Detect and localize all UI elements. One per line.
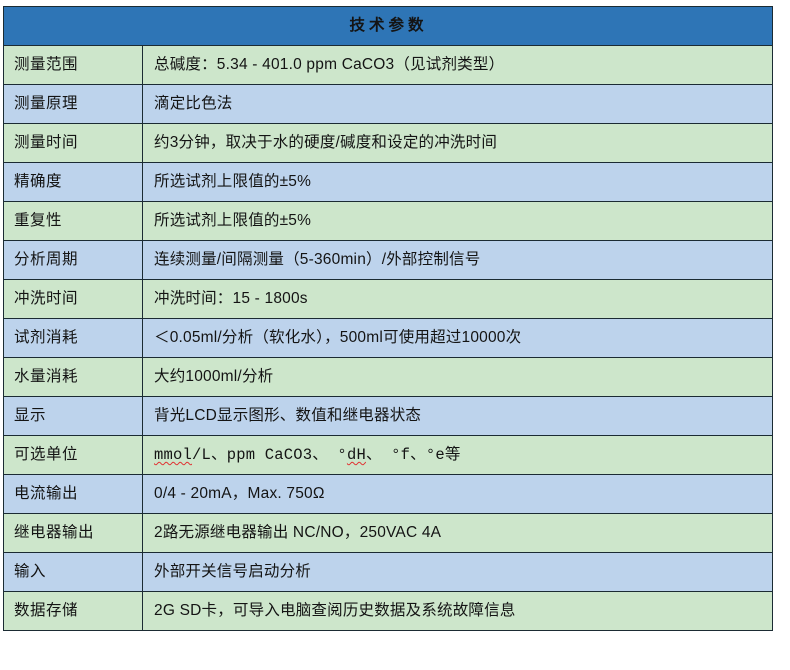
table-row: 数据存储2G SD卡，可导入电脑查阅历史数据及系统故障信息 <box>4 592 773 631</box>
table-row: 输入外部开关信号启动分析 <box>4 553 773 592</box>
spec-value-cell: 0/4 - 20mA，Max. 750Ω <box>143 475 773 514</box>
spec-label-cell: 继电器输出 <box>4 514 143 553</box>
spec-label-cell: 重复性 <box>4 202 143 241</box>
table-row: 冲洗时间冲洗时间：15 - 1800s <box>4 280 773 319</box>
table-row: 精确度所选试剂上限值的±5% <box>4 163 773 202</box>
table-row: 测量时间约3分钟，取决于水的硬度/碱度和设定的冲洗时间 <box>4 124 773 163</box>
spec-value-cell: 冲洗时间：15 - 1800s <box>143 280 773 319</box>
page-title: 技术参数 <box>4 7 773 46</box>
table-row: 重复性所选试剂上限值的±5% <box>4 202 773 241</box>
spec-label-cell: 精确度 <box>4 163 143 202</box>
spec-label-cell: 测量范围 <box>4 46 143 85</box>
spec-value-cell: 2G SD卡，可导入电脑查阅历史数据及系统故障信息 <box>143 592 773 631</box>
spec-label-cell: 冲洗时间 <box>4 280 143 319</box>
spec-label-cell: 分析周期 <box>4 241 143 280</box>
spec-label-cell: 测量原理 <box>4 85 143 124</box>
spec-label-cell: 试剂消耗 <box>4 319 143 358</box>
spec-value-cell: 约3分钟，取决于水的硬度/碱度和设定的冲洗时间 <box>143 124 773 163</box>
spec-value-cell: 所选试剂上限值的±5% <box>143 163 773 202</box>
spec-value-cell: 所选试剂上限值的±5% <box>143 202 773 241</box>
misspelled-term: mmol <box>154 446 192 464</box>
table-row: 水量消耗大约1000ml/分析 <box>4 358 773 397</box>
table-row: 分析周期连续测量/间隔测量（5-360min）/外部控制信号 <box>4 241 773 280</box>
spec-value-cell: ＜0.05ml/分析（软化水），500ml可使用超过10000次 <box>143 319 773 358</box>
spec-value-cell: 滴定比色法 <box>143 85 773 124</box>
table-row: 电流输出0/4 - 20mA，Max. 750Ω <box>4 475 773 514</box>
table-row: 可选单位mmol/L、ppm CaCO3、 °dH、 °f、°e等 <box>4 436 773 475</box>
spec-value-cell: 连续测量/间隔测量（5-360min）/外部控制信号 <box>143 241 773 280</box>
table-row: 继电器输出2路无源继电器输出 NC/NO，250VAC 4A <box>4 514 773 553</box>
table-row: 测量原理滴定比色法 <box>4 85 773 124</box>
spec-sheet-page: 技术参数 测量范围总碱度：5.34 - 401.0 ppm CaCO3（见试剂类… <box>0 0 790 670</box>
spec-value-cell: 大约1000ml/分析 <box>143 358 773 397</box>
spec-label-cell: 电流输出 <box>4 475 143 514</box>
spec-label-cell: 输入 <box>4 553 143 592</box>
technical-specifications-table: 技术参数 测量范围总碱度：5.34 - 401.0 ppm CaCO3（见试剂类… <box>3 6 773 631</box>
table-row: 测量范围总碱度：5.34 - 401.0 ppm CaCO3（见试剂类型） <box>4 46 773 85</box>
spec-value-cell: 总碱度：5.34 - 401.0 ppm CaCO3（见试剂类型） <box>143 46 773 85</box>
table-row: 试剂消耗＜0.05ml/分析（软化水），500ml可使用超过10000次 <box>4 319 773 358</box>
spec-label-cell: 水量消耗 <box>4 358 143 397</box>
value-text: /L、ppm CaCO3、 ° <box>192 446 347 464</box>
spec-label-cell: 数据存储 <box>4 592 143 631</box>
spec-label-cell: 测量时间 <box>4 124 143 163</box>
spec-value-cell: 背光LCD显示图形、数值和继电器状态 <box>143 397 773 436</box>
table-row: 显示背光LCD显示图形、数值和继电器状态 <box>4 397 773 436</box>
spec-label-cell: 可选单位 <box>4 436 143 475</box>
spec-label-cell: 显示 <box>4 397 143 436</box>
spec-value-cell: 2路无源继电器输出 NC/NO，250VAC 4A <box>143 514 773 553</box>
misspelled-term: dH <box>347 446 366 464</box>
table-body: 测量范围总碱度：5.34 - 401.0 ppm CaCO3（见试剂类型）测量原… <box>4 46 773 631</box>
spec-value-cell: 外部开关信号启动分析 <box>143 553 773 592</box>
table-title-row: 技术参数 <box>4 7 773 46</box>
value-text: 、 °f、°e等 <box>366 446 461 464</box>
spec-value-cell: mmol/L、ppm CaCO3、 °dH、 °f、°e等 <box>143 436 773 475</box>
